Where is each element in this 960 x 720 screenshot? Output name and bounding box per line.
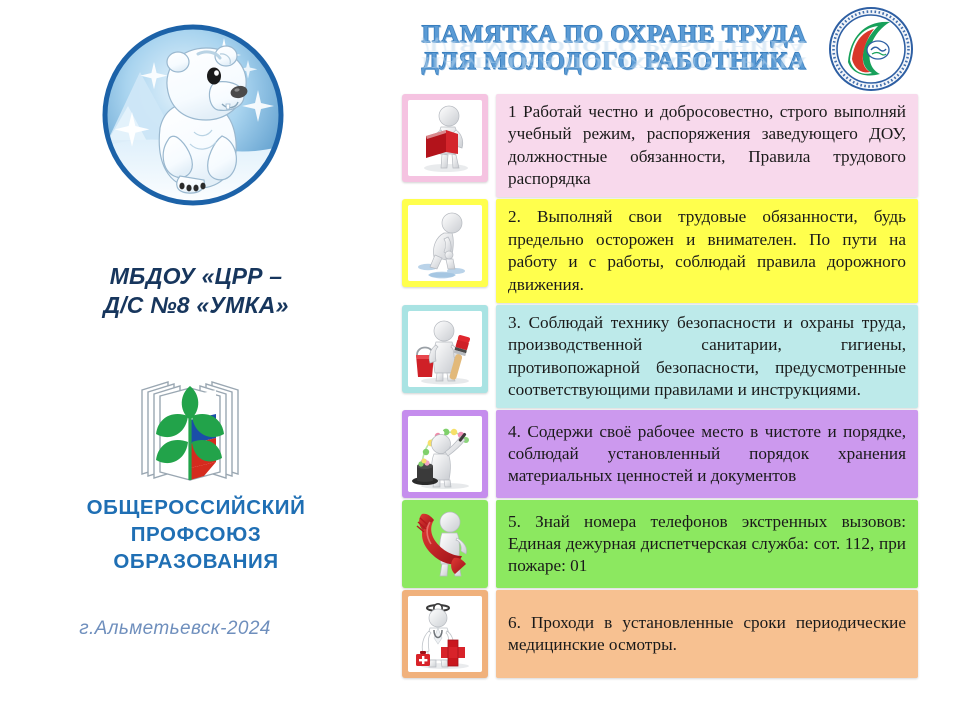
rule-text: 1 Работай честно и добросовестно, строго… <box>496 94 918 197</box>
union-name-line2: ПРОФСОЮЗ <box>10 521 382 548</box>
table-row: 5. Знай номера телефонов экстренных вызо… <box>402 500 918 588</box>
rule-text: 3. Соблюдай технику безопасности и охран… <box>496 305 918 408</box>
kindergarten-name: МБДОУ «ЦРР – Д/С №8 «УМКА» <box>10 262 382 321</box>
table-row: 6. Проходи в установленные сроки периоди… <box>402 590 918 678</box>
person-magician-tidy-icon <box>402 410 488 498</box>
union-name-line1: ОБЩЕРОССИЙСКИЙ <box>10 494 382 521</box>
rule-text: 4. Содержи своё рабочее место в чистоте … <box>496 410 918 498</box>
kindergarten-name-line1: МБДОУ «ЦРР – <box>10 262 382 291</box>
left-branding-column: МБДОУ «ЦРР – Д/С №8 «УМКА» <box>0 0 392 720</box>
table-row: 1 Работай честно и добросовестно, строго… <box>402 94 918 197</box>
union-name: ОБЩЕРОССИЙСКИЙ ПРОФСОЮЗ ОБРАЗОВАНИЯ <box>10 494 382 575</box>
person-slipping-caution-icon <box>402 199 488 287</box>
rule-text: 6. Проходи в установленные сроки периоди… <box>496 590 918 678</box>
city-year-label: г.Альметьевск-2024 <box>10 618 340 640</box>
kindergarten-name-line2: Д/С №8 «УМКА» <box>10 291 382 320</box>
page-title-line1: ПАМЯТКА ПО ОХРАНЕ ТРУДА <box>404 22 824 49</box>
rule-text: 2. Выполняй свои трудовые обязанности, б… <box>496 199 918 302</box>
table-row: 4. Содержи своё рабочее место в чистоте … <box>402 410 918 498</box>
page-title-line2: ДЛЯ МОЛОДОГО РАБОТНИКА <box>404 49 824 76</box>
table-row: 2. Выполняй свои трудовые обязанности, б… <box>402 199 918 302</box>
union-name-line3: ОБРАЗОВАНИЯ <box>10 548 382 575</box>
rule-text: 5. Знай номера телефонов экстренных вызо… <box>496 500 918 588</box>
table-row: 3. Соблюдай технику безопасности и охран… <box>402 305 918 408</box>
education-trade-union-logo <box>128 368 252 486</box>
polar-bear-umka-logo <box>98 20 288 210</box>
safety-rules-list: 1 Работай честно и добросовестно, строго… <box>402 94 918 680</box>
person-reading-book-icon <box>402 94 488 182</box>
page-title: ПАМЯТКА ПО ОХРАНЕ ТРУДА ДЛЯ МОЛОДОГО РАБ… <box>404 22 824 90</box>
tatarstan-union-emblem <box>828 6 914 92</box>
doctor-medical-cross-icon <box>402 590 488 678</box>
person-with-telephone-icon <box>402 500 488 588</box>
person-with-paint-brush-icon <box>402 305 488 393</box>
slide-canvas: МБДОУ «ЦРР – Д/С №8 «УМКА» <box>0 0 960 720</box>
